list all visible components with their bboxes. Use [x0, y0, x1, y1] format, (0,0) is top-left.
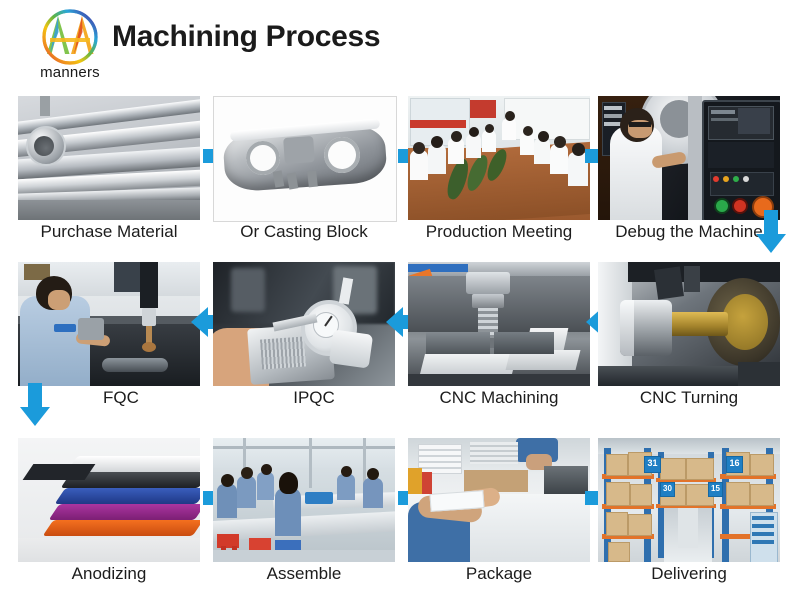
step-label: Production Meeting [396, 222, 602, 242]
company-logo: manners [24, 8, 116, 86]
step-label: Or Casting Block [201, 222, 407, 242]
row1-to-row2-down-arrow [754, 210, 788, 254]
casting-block-photo-icon [213, 96, 397, 222]
aisle-number-sign: 16 [726, 456, 743, 473]
anodized-plates-photo-icon [18, 438, 200, 562]
steel-bars-photo-icon [18, 96, 200, 220]
aisle-number-sign: 31 [644, 456, 661, 473]
step-label: CNC Machining [396, 388, 602, 408]
logo-wordmark: manners [24, 64, 116, 81]
dial-gauge-photo-icon [213, 262, 395, 386]
step-label: FQC [76, 388, 166, 408]
manners-rainbow-circle-logo-icon [38, 8, 102, 66]
row2-to-row3-down-arrow [18, 383, 52, 427]
cnc-lathe-photo-icon [598, 262, 780, 386]
step-label: Delivering [598, 564, 780, 584]
cmm-inspection-photo-icon [18, 262, 200, 386]
header: manners Machining Process [0, 0, 800, 88]
step-label: Assemble [213, 564, 395, 584]
step-label: Purchase Material [6, 222, 212, 242]
warehouse-racks-photo-icon: 31 16 30 15 [598, 438, 780, 562]
step-label: CNC Turning [586, 388, 792, 408]
step-label: IPQC [269, 388, 359, 408]
step-label: Package [408, 564, 590, 584]
aisle-number-sign: 30 [660, 482, 675, 497]
assembly-line-photo-icon [213, 438, 395, 562]
step-label: Anodizing [18, 564, 200, 584]
page-title: Machining Process [112, 20, 380, 54]
cnc-control-panel-photo-icon [598, 96, 780, 220]
meeting-room-photo-icon [408, 96, 590, 220]
packaging-bench-photo-icon [408, 438, 590, 562]
machining-process-infographic: manners Machining Process Purchase Mater… [0, 0, 800, 615]
cnc-mill-photo-icon [408, 262, 590, 386]
aisle-number-sign: 15 [708, 482, 723, 497]
